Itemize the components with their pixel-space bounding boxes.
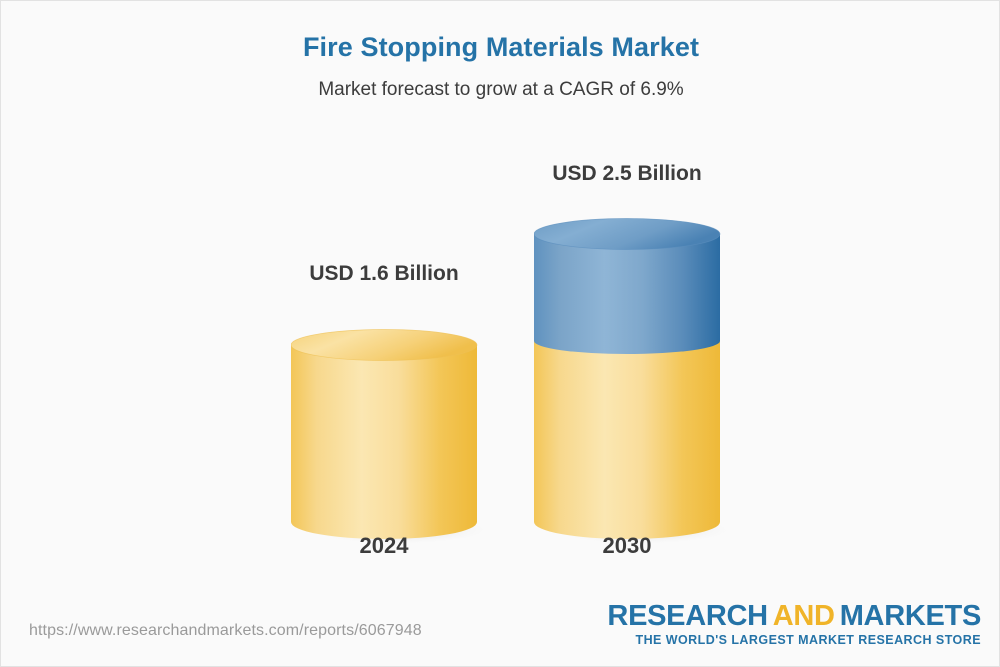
cylinder-2024[interactable] <box>291 286 477 546</box>
logo-word-and: AND <box>773 600 835 632</box>
category-label-2024: 2024 <box>291 533 477 559</box>
value-label-2024: USD 1.6 Billion <box>291 261 477 286</box>
cylinder-2030-shape <box>534 186 734 546</box>
bar-group-2030: USD 2.5 Billion <box>534 161 720 546</box>
logo-word-markets: MARKETS <box>840 600 981 632</box>
bar-group-2024: USD 1.6 Billion <box>291 261 477 546</box>
logo-word-research: RESEARCH <box>607 600 767 632</box>
research-and-markets-logo[interactable]: RESEARCHANDMARKETS THE WORLD'S LARGEST M… <box>607 601 981 648</box>
report-url[interactable]: https://www.researchandmarkets.com/repor… <box>29 622 422 640</box>
chart-plot-area: USD 1.6 Billion <box>1 1 1000 667</box>
cylinder-2024-shape <box>291 286 491 546</box>
logo-tagline: THE WORLD'S LARGEST MARKET RESEARCH STOR… <box>607 634 981 648</box>
category-label-2030: 2030 <box>534 533 720 559</box>
value-label-2030: USD 2.5 Billion <box>534 161 720 186</box>
infographic-canvas: Fire Stopping Materials Market Market fo… <box>0 0 1000 667</box>
logo-wordmark: RESEARCHANDMARKETS <box>607 601 981 631</box>
cylinder-2030[interactable] <box>534 186 720 546</box>
